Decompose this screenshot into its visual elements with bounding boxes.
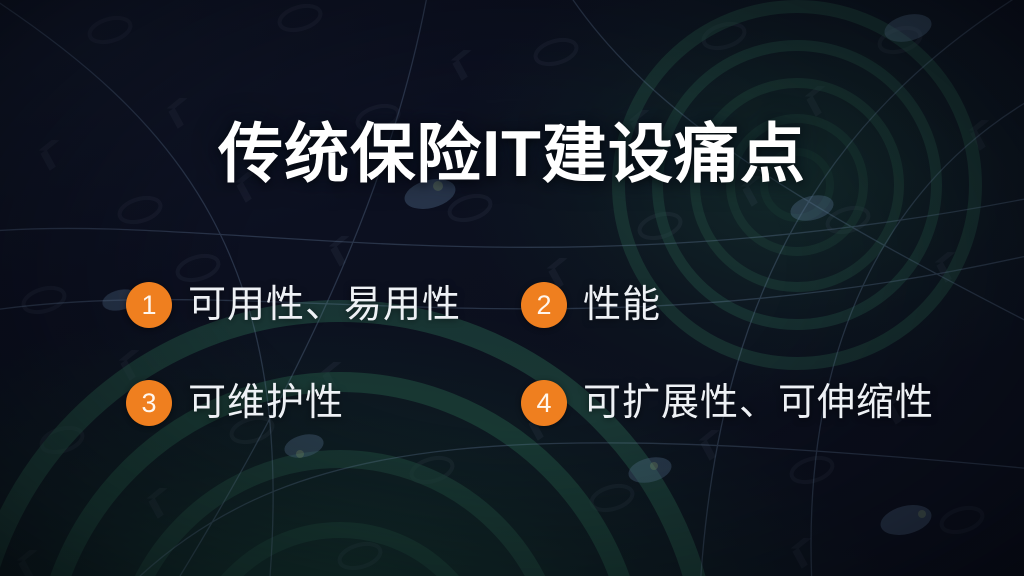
page-title: 传统保险IT建设痛点 — [0, 120, 1024, 188]
pain-point-number-badge-4: 4 — [521, 380, 567, 426]
pain-point-item-1: 1 可用性、易用性 — [126, 272, 521, 338]
pain-point-row: 3 可维护性 4 可扩展性、可伸缩性 — [126, 370, 956, 436]
pain-point-number-badge-2: 2 — [521, 282, 567, 328]
pain-point-label-2: 性能 — [583, 282, 661, 328]
pain-point-number-badge-3: 3 — [126, 380, 172, 426]
pain-point-label-3: 可维护性 — [188, 380, 344, 426]
slide-canvas: 传统保险IT建设痛点 1 可用性、易用性 2 性能 3 可维护性 4 — [0, 0, 1024, 576]
pain-point-list: 1 可用性、易用性 2 性能 3 可维护性 4 可扩展性、可伸缩性 — [126, 272, 956, 436]
pain-point-label-1: 可用性、易用性 — [188, 282, 461, 328]
pain-point-row: 1 可用性、易用性 2 性能 — [126, 272, 956, 338]
pain-point-item-3: 3 可维护性 — [126, 370, 521, 436]
pain-point-item-4: 4 可扩展性、可伸缩性 — [521, 370, 956, 436]
pain-point-label-4: 可扩展性、可伸缩性 — [583, 380, 934, 426]
pain-point-number-badge-1: 1 — [126, 282, 172, 328]
pain-point-item-2: 2 性能 — [521, 272, 956, 338]
